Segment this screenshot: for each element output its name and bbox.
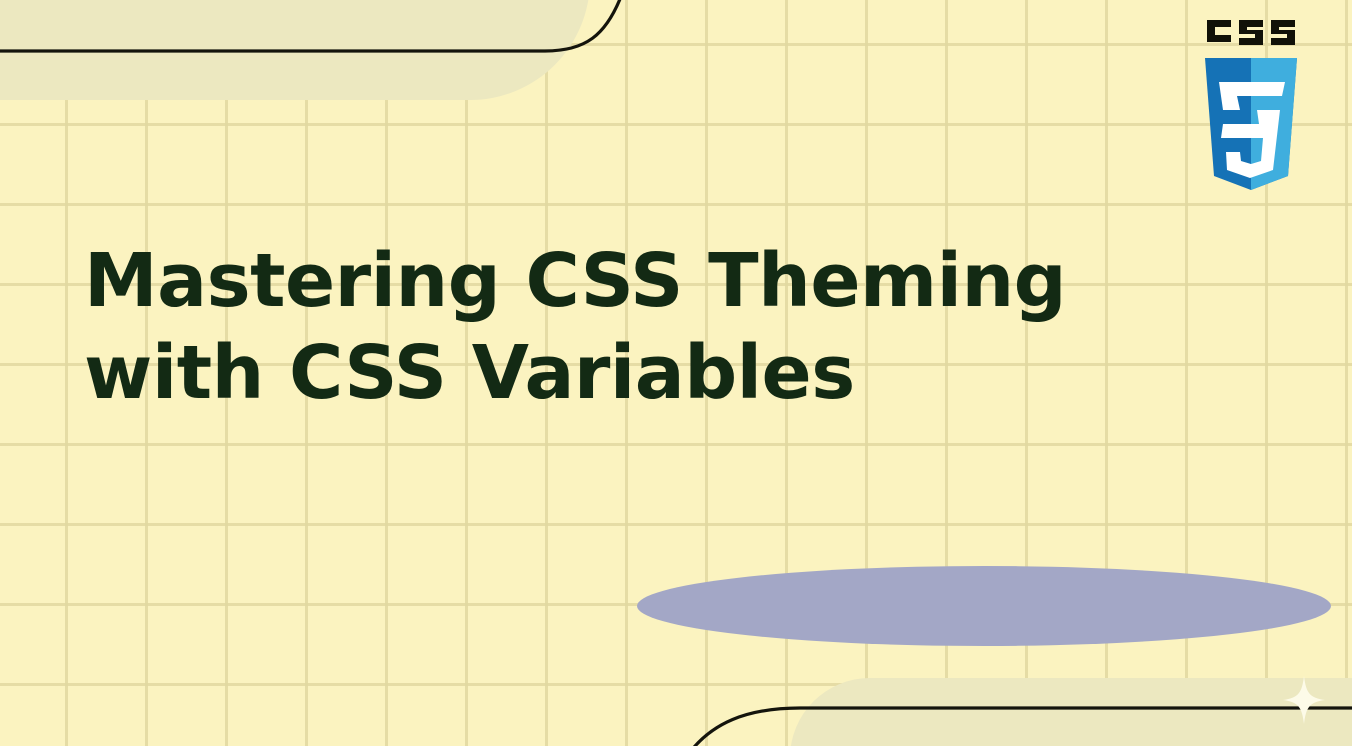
bottom-right-cream-blob <box>790 678 1352 746</box>
sparkle-icon <box>1283 676 1325 724</box>
css3-wordmark-icon <box>1205 14 1297 48</box>
sparkle-shape <box>1283 676 1325 724</box>
periwinkle-ellipse <box>637 566 1331 646</box>
shield-highlight <box>1251 58 1297 190</box>
css3-logo <box>1199 14 1303 210</box>
css3-shield-icon <box>1199 56 1303 208</box>
page-title: Mastering CSS Theming with CSS Variables <box>84 236 1264 420</box>
top-left-cream-blob <box>0 0 590 100</box>
slide-canvas: Mastering CSS Theming with CSS Variables <box>0 0 1352 746</box>
